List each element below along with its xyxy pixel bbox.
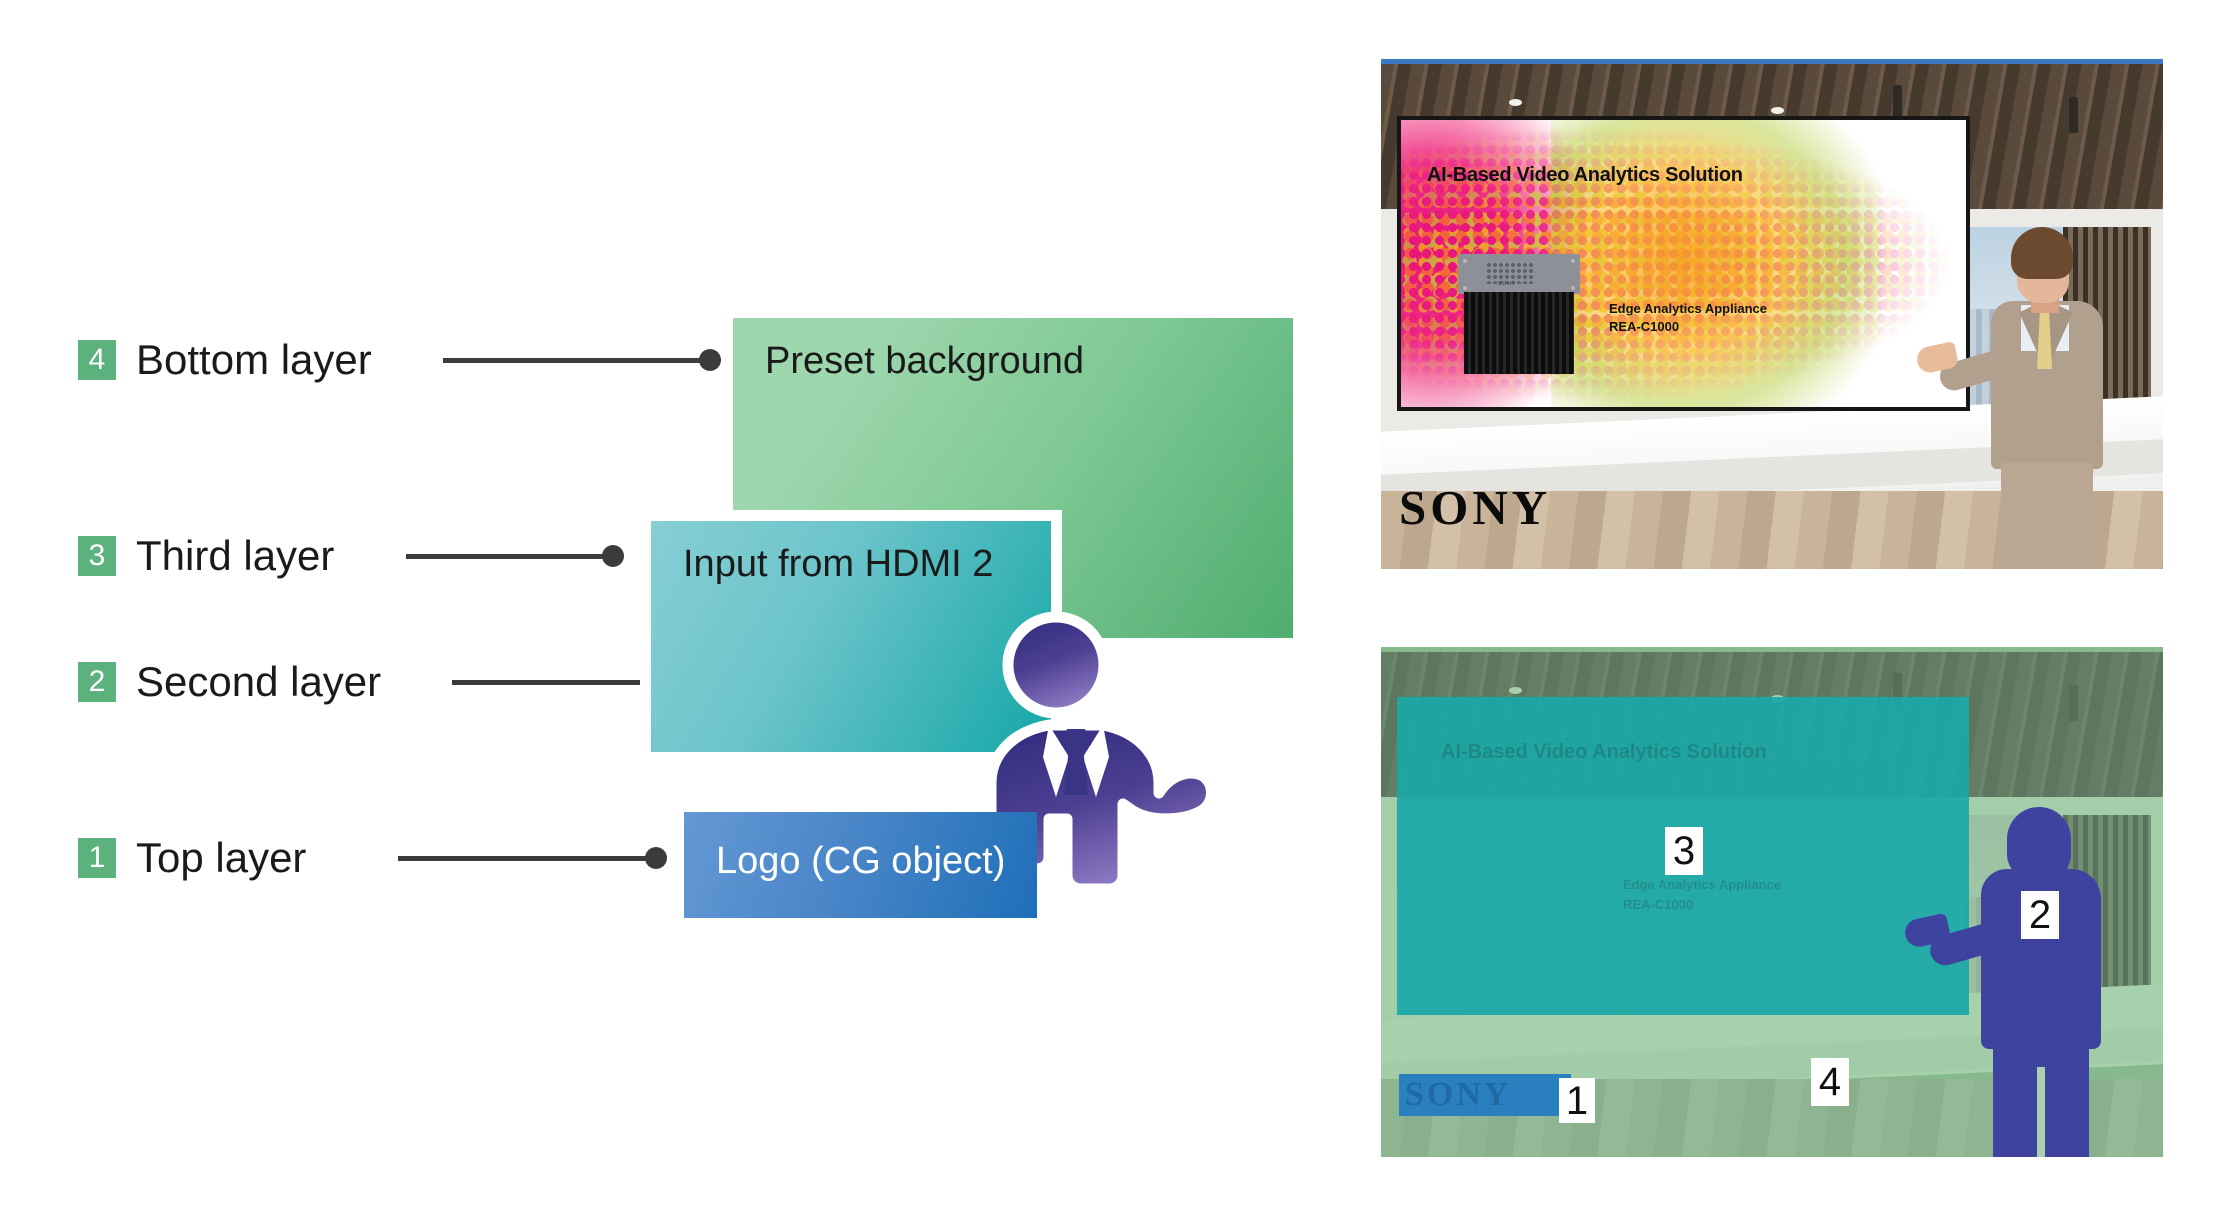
device-top-panel: SONY (1458, 254, 1580, 294)
layer-badge-4: 4 (1811, 1058, 1849, 1106)
screw-icon (1463, 259, 1467, 263)
silhouette-legs (1993, 1043, 2089, 1157)
leader-dot-3 (602, 545, 624, 567)
layer-badge-3: 3 (1665, 827, 1703, 875)
leader-line-1 (398, 856, 650, 861)
legend-label-top-layer: Top layer (136, 834, 306, 882)
legend-badge-4: 4 (78, 340, 116, 380)
ceiling-light-icon (1509, 99, 1522, 106)
legend-badge-2: 2 (78, 662, 116, 702)
leader-line-3 (406, 554, 608, 559)
leader-dot-1 (645, 847, 667, 869)
sony-bar-text: SONY (1405, 1076, 1511, 1114)
ghost-screen-title: AI-Based Video Analytics Solution (1441, 741, 1767, 764)
layer-badge-2: 2 (2021, 891, 2059, 939)
reference-photo-composited: AI-Based Video Analytics Solution SONY E… (1381, 59, 2163, 569)
leader-dot-4 (699, 349, 721, 371)
edge-analytics-appliance-device: SONY (1458, 254, 1580, 374)
screen-title: AI-Based Video Analytics Solution (1427, 164, 1743, 187)
ceiling-spotlight-icon (2069, 97, 2078, 133)
legend-badge-3: 3 (78, 536, 116, 576)
device-brand-label: SONY (1498, 281, 1516, 287)
screen-subtitle: Edge Analytics Appliance REA-C1000 (1609, 300, 1767, 335)
presentation-screen: AI-Based Video Analytics Solution SONY E… (1397, 116, 1970, 411)
legend-label-third-layer: Third layer (136, 532, 334, 580)
silhouette-head (2007, 807, 2071, 879)
sony-brand-logo: SONY (1399, 479, 1551, 536)
screw-icon (1571, 259, 1575, 263)
layer-legend-panel: 4 Bottom layer 3 Third layer 2 Second la… (0, 0, 1340, 1216)
ghost-subtitle-line2: REA-C1000 (1623, 897, 1693, 912)
presenter-legs (2001, 463, 2093, 569)
ghost-subtitle-line1: Edge Analytics Appliance (1623, 877, 1781, 892)
screw-icon (1571, 286, 1575, 290)
legend-label-second-layer: Second layer (136, 658, 381, 706)
screen-subtitle-line1: Edge Analytics Appliance (1609, 301, 1767, 316)
layer-box-preset-background-label: Preset background (765, 340, 1084, 383)
device-heatsink (1464, 292, 1574, 374)
presenter-person (1973, 227, 2121, 569)
leader-line-4 (443, 358, 705, 363)
layer-map-photo: AI-Based Video Analytics Solution Edge A… (1381, 647, 2163, 1157)
screw-icon (1463, 286, 1467, 290)
person-silhouette-layer[interactable] (1967, 807, 2127, 1157)
layer-box-logo-cg-object[interactable]: Logo (CG object) (684, 812, 1037, 918)
screen-subtitle-line2: REA-C1000 (1609, 319, 1679, 334)
legend-row-second-layer[interactable]: 2 Second layer (78, 654, 381, 710)
legend-badge-1: 1 (78, 838, 116, 878)
presenter-hair (2011, 227, 2073, 279)
layer-box-hdmi-input-label: Input from HDMI 2 (683, 543, 993, 586)
layer-box-logo-cg-object-label: Logo (CG object) (716, 840, 1005, 883)
ceiling-light-icon (1771, 107, 1784, 114)
layer-badge-1: 1 (1559, 1078, 1595, 1123)
legend-row-top-layer[interactable]: 1 Top layer (78, 830, 306, 886)
legend-label-bottom-layer: Bottom layer (136, 336, 372, 384)
legend-row-third-layer[interactable]: 3 Third layer (78, 528, 334, 584)
legend-row-bottom-layer[interactable]: 4 Bottom layer (78, 332, 372, 388)
sony-logo-bar-layer[interactable]: SONY (1399, 1074, 1571, 1116)
